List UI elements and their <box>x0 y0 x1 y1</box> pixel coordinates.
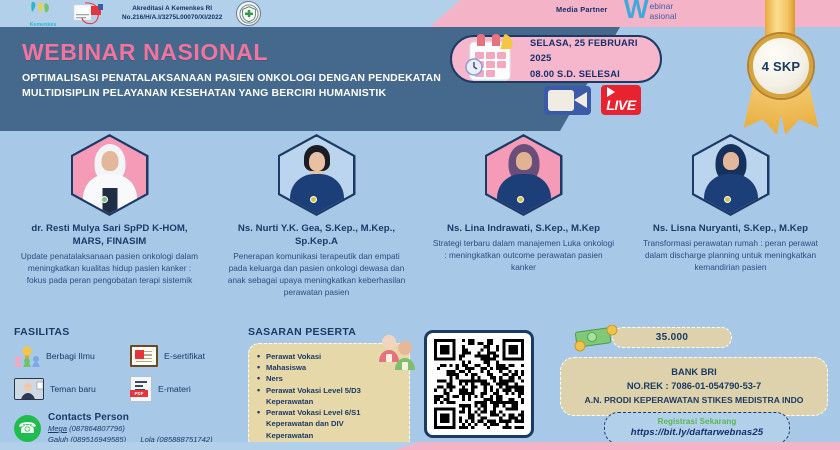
registration-cta: Registrasi Sekarang <box>611 417 783 426</box>
speaker-card: Ns. Nurti Y.K. Gea, S.Kep., M.Kep., Sp.K… <box>219 134 415 299</box>
speaker-photo <box>692 134 770 216</box>
speaker-card: Ns. Lisna Nuryanti, S.Kep., M.Kep Transf… <box>633 134 829 274</box>
accreditation-text: Akreditasi A Kemenkes RI No.216/H/A.I/32… <box>118 5 222 22</box>
live-badge-icon: LIVE <box>601 85 641 115</box>
qr-code-image[interactable] <box>433 339 525 429</box>
speaker-photo <box>485 134 563 216</box>
bank-account-holder: A.N. PRODI KEPERAWATAN STIKES MEDISTRA I… <box>567 394 821 407</box>
fasilitas-item: E-sertifikat <box>130 345 240 367</box>
speaker-name: Ns. Lina Indrawati, S.Kep., M.Kep <box>444 222 603 235</box>
registration-card[interactable]: Registrasi Sekarang https://bit.ly/dafta… <box>604 412 790 444</box>
sasaran-item: Perawat Vokasi <box>257 351 401 362</box>
bank-account-number: NO.REK : 7086-01-054790-53-7 <box>567 380 821 394</box>
speaker-topic: Strategi terbaru dalam manajemen Luka on… <box>426 238 622 273</box>
stikes-logo <box>236 1 261 26</box>
sasaran-item: Mahasiswa <box>257 362 401 373</box>
sasaran-card: Perawat Vokasi Mahasiswa Ners Perawat Vo… <box>248 343 410 450</box>
money-icon <box>570 325 622 353</box>
speaker-card: dr. Resti Mulya Sari SpPD K-HOM, MARS, F… <box>12 134 208 287</box>
speaker-card: Ns. Lina Indrawati, S.Kep., M.Kep Strate… <box>426 134 622 274</box>
sasaran-section: SASARAN PESERTA Perawat Vokasi Mahasiswa… <box>248 326 410 450</box>
fasilitas-item: Teman baru <box>14 378 130 400</box>
speaker-name: Ns. Nurti Y.K. Gea, S.Kep., M.Kep., Sp.K… <box>219 222 415 248</box>
speakers-section: dr. Resti Mulya Sari SpPD K-HOM, MARS, F… <box>0 134 840 320</box>
media-partner-brand-line2: asional <box>650 12 677 21</box>
schedule-date: SELASA, 25 FEBRUARI 2025 <box>530 36 660 67</box>
accreditation-line2: No.216/H/A.I/3275L00070/XI/2022 <box>122 14 222 23</box>
price-value: 35.000 <box>656 332 688 343</box>
kemenkes-mark-icon <box>30 1 52 14</box>
kemenkes-logo: Kemenkes <box>22 1 64 27</box>
lam-ptkes-logo <box>72 2 110 26</box>
accreditation-line1: Akreditasi A Kemenkes RI <box>122 5 222 14</box>
bank-name: BANK BRI <box>567 366 821 380</box>
sasaran-item: Keperawatan <box>257 430 401 441</box>
fasilitas-item-label: E-sertifikat <box>164 351 205 361</box>
fasilitas-item-label: E-materi <box>158 384 191 394</box>
calendar-icon <box>462 30 520 84</box>
speaker-name: Ns. Lisna Nuryanti, S.Kep., M.Kep <box>650 222 811 235</box>
skp-medal: 4 SKP <box>735 0 827 132</box>
fasilitas-list: Berbagi Ilmu E-sertifikat <box>14 345 240 402</box>
stikes-emblem-icon <box>239 4 259 24</box>
contact-phone: (087864807796) <box>69 424 125 433</box>
schedule-time: 08.00 S.D. SELESAI <box>530 67 660 82</box>
fasilitas-item-label: Berbagi Ilmu <box>46 351 95 361</box>
contacts-text: Contacts Person Mega (087864807796) Galu… <box>48 412 213 446</box>
sasaran-item: Keperawatan dan DIV <box>257 418 401 429</box>
webinar-poster: Kemenkes Akreditasi A Kemenkes RI No.216… <box>0 0 840 450</box>
headline-subtitle: OPTIMALISASI PENATALAKSANAAN PASIEN ONKO… <box>22 71 442 101</box>
price-pill: 35.000 <box>612 327 732 348</box>
bottom-strip-blue <box>0 442 420 450</box>
sasaran-item: Ners <box>257 373 401 384</box>
media-partner-brand-text: ebinar asional <box>650 0 677 21</box>
fasilitas-section: FASILITAS Berbagi Ilmu <box>14 326 240 446</box>
institution-logos: Kemenkes Akreditasi A Kemenkes RI No.216… <box>0 0 261 27</box>
speaker-name: dr. Resti Mulya Sari SpPD K-HOM, MARS, F… <box>12 222 208 248</box>
bank-details-card: BANK BRI NO.REK : 7086-01-054790-53-7 A.… <box>560 357 828 416</box>
top-bar: Kemenkes Akreditasi A Kemenkes RI No.216… <box>0 0 840 27</box>
certificate-icon <box>130 345 158 367</box>
pdf-tag-label: PDF <box>130 390 148 397</box>
speaker-photo <box>278 134 356 216</box>
sasaran-item: Keperawatan <box>257 396 401 407</box>
people-idea-icon <box>14 345 40 367</box>
media-partner-logo: W ebinar asional <box>624 0 676 22</box>
video-call-icon <box>14 378 44 400</box>
contact-name: Mega <box>48 424 67 433</box>
pdf-file-icon: PDF <box>130 376 152 402</box>
media-partner-label: Media Partner <box>556 5 607 14</box>
speaker-topic: Penerapan komunikasi terapeutik dan empa… <box>219 251 415 298</box>
whatsapp-icon[interactable]: ☎ <box>14 415 41 442</box>
contacts-block: ☎ Contacts Person Mega (087864807796) Ga… <box>14 412 240 446</box>
speaker-topic: Transformasi perawatan rumah : peran per… <box>633 238 829 273</box>
registration-link[interactable]: https://bit.ly/daftarwebnas25 <box>611 427 783 438</box>
price-block: 35.000 <box>612 327 732 348</box>
sasaran-item: Perawat Vokasi Level 5/D3 <box>257 385 401 396</box>
schedule-text: SELASA, 25 FEBRUARI 2025 08.00 S.D. SELE… <box>530 36 660 82</box>
media-partner-brand-mark: W <box>624 0 649 22</box>
sasaran-list: Perawat Vokasi Mahasiswa Ners Perawat Vo… <box>257 351 401 441</box>
speaker-topic: Update penatalaksanaan pasien onkologi d… <box>12 251 208 286</box>
contacts-title: Contacts Person <box>48 412 213 423</box>
speaker-photo <box>71 134 149 216</box>
lam-mark-icon <box>72 2 110 26</box>
qr-code[interactable] <box>424 330 534 438</box>
live-label: LIVE <box>606 97 636 115</box>
sasaran-item: Perawat Vokasi Level 6/S1 <box>257 407 401 418</box>
fasilitas-title: FASILITAS <box>14 326 240 338</box>
medal-disc: 4 SKP <box>749 34 813 98</box>
fasilitas-item: Berbagi Ilmu <box>14 345 130 367</box>
contact-line-1: Mega (087864807796) <box>48 423 213 434</box>
video-camera-icon <box>544 86 591 115</box>
kemenkes-label: Kemenkes <box>22 22 64 28</box>
skp-label: 4 SKP <box>762 59 801 74</box>
fasilitas-item-label: Teman baru <box>50 384 96 394</box>
fasilitas-item: PDF E-materi <box>130 376 240 402</box>
